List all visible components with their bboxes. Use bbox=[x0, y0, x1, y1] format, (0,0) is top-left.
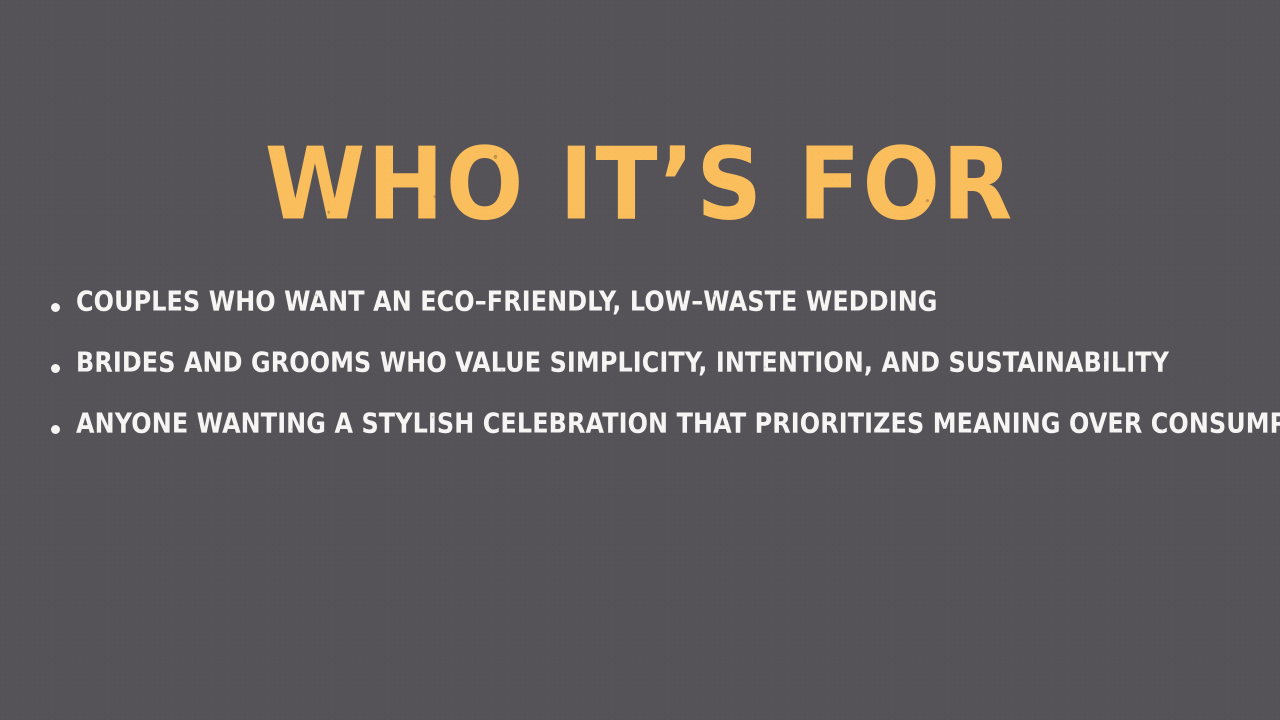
bullet-list: COUPLES WHO WANT AN ECO–FRIENDLY, LOW–WA… bbox=[48, 286, 1248, 469]
list-item: ANYONE WANTING A STYLISH CELEBRATION THA… bbox=[48, 408, 1248, 469]
bullet-item-label: BRIDES AND GROOMS WHO VALUE SIMPLICITY, … bbox=[76, 347, 1169, 379]
presentation-slide: WHO IT’S FOR COUPLES WHO WANT AN ECO–FRI… bbox=[0, 0, 1280, 720]
bullet-dot-icon bbox=[51, 303, 60, 312]
bullet-dot-icon bbox=[51, 364, 60, 373]
bullet-item-label: COUPLES WHO WANT AN ECO–FRIENDLY, LOW–WA… bbox=[76, 286, 938, 318]
list-item: COUPLES WHO WANT AN ECO–FRIENDLY, LOW–WA… bbox=[48, 286, 1248, 347]
bullet-item-label: ANYONE WANTING A STYLISH CELEBRATION THA… bbox=[76, 408, 1280, 440]
slide-title-container: WHO IT’S FOR bbox=[0, 76, 1280, 279]
bullet-dot-icon bbox=[51, 425, 60, 434]
page-title: WHO IT’S FOR bbox=[265, 134, 1015, 236]
list-item: BRIDES AND GROOMS WHO VALUE SIMPLICITY, … bbox=[48, 347, 1248, 408]
